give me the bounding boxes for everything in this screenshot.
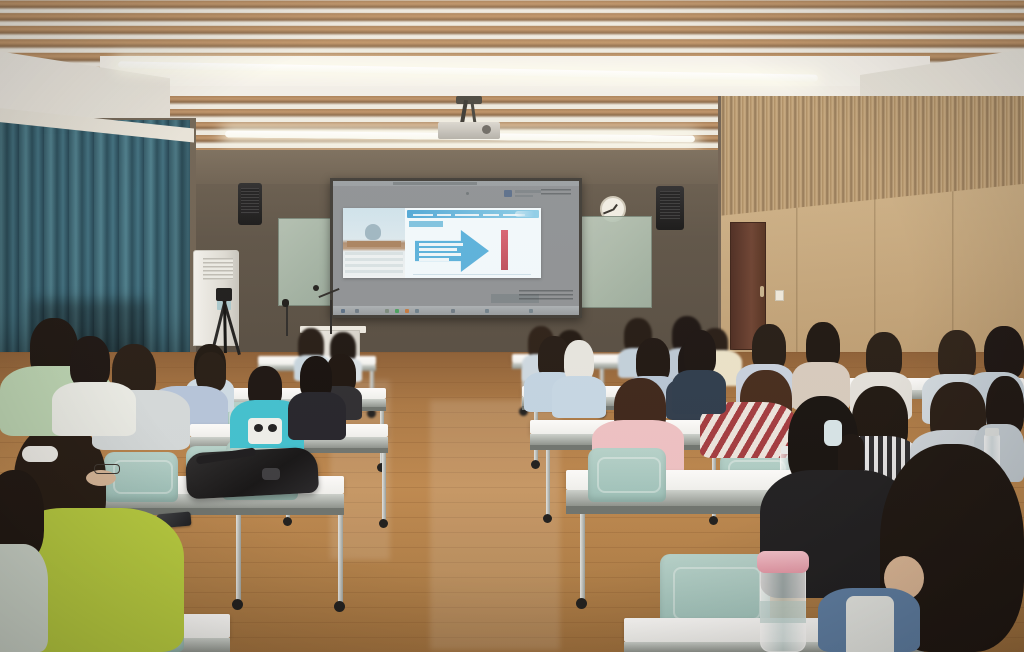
slide-vertical-accent-text (501, 230, 508, 270)
chair-r4-3[interactable] (588, 448, 666, 502)
eyeglasses-icon (94, 464, 120, 474)
tshirt-print-graphic (248, 418, 282, 444)
water-bottle-right-cap (985, 428, 999, 436)
taskbar-icon-1[interactable] (355, 309, 359, 313)
slide-photo-seat-rows (345, 252, 403, 276)
slide-title-text-2 (437, 214, 451, 216)
slide-credit-text (519, 290, 573, 302)
face-mask-icon (824, 420, 842, 446)
whiteboard-right (576, 216, 652, 308)
taskbar-icon-6[interactable] (451, 309, 455, 313)
taskbar-icon-5[interactable] (415, 309, 419, 313)
ceiling-projector (438, 112, 500, 138)
speaker-grill-icon-left (241, 188, 259, 214)
slide-arrow-graphic (415, 230, 489, 272)
microphone-icon (313, 285, 319, 291)
slide-bullet-1 (419, 243, 463, 246)
desktop-taskbar[interactable] (333, 306, 579, 315)
speaker-grill-icon-right (660, 191, 680, 219)
slide-photo-speaker (365, 224, 381, 240)
projection-screen (333, 181, 579, 315)
slide-bullet-2 (419, 248, 457, 251)
air-conditioner-vent-icon (203, 258, 233, 280)
hair-clip (22, 446, 58, 462)
slide-corner-watermark (541, 189, 571, 197)
desktop-titlebar-text (393, 182, 477, 185)
slide-photo-conference-hall (343, 208, 405, 278)
slide-bullet-5 (419, 263, 453, 266)
slide-footer-rule (413, 274, 531, 276)
light-switch[interactable] (775, 290, 784, 301)
slide-title-text-1 (413, 214, 433, 216)
microphone-stand-2 (286, 306, 288, 336)
taskbar-icon-2[interactable] (385, 309, 389, 313)
microphone-icon-2 (282, 299, 289, 307)
slide-title-text-4 (483, 214, 499, 216)
tshirt-print-eye-right (268, 424, 277, 432)
slide-bullet-3 (419, 253, 461, 256)
slide-subtitle-chip (409, 221, 443, 227)
backpack-buckle-icon (262, 468, 280, 480)
taskbar-icon-7[interactable] (485, 309, 489, 313)
desktop-cursor-icon (466, 192, 469, 195)
desktop-text-line-2 (515, 195, 533, 197)
presentation-slide (343, 208, 541, 278)
camera-on-tripod (216, 288, 232, 301)
taskbar-icon-start[interactable] (341, 309, 345, 313)
door-handle-icon[interactable] (760, 286, 764, 297)
tshirt-print-eye-left (254, 424, 263, 432)
projector-mount-plate (456, 96, 482, 104)
slide-bullet-4 (419, 258, 449, 261)
slide-logo-icon (515, 211, 535, 217)
lecture-hall-photo (0, 0, 1024, 652)
microphone-stand (330, 300, 332, 334)
taskbar-icon-3[interactable] (395, 309, 399, 313)
desktop-icon (504, 190, 512, 197)
taskbar-icon-4[interactable] (405, 309, 409, 313)
slide-title-text-3 (455, 214, 479, 216)
taskbar-icon-8[interactable] (529, 309, 533, 313)
white-collar (846, 596, 894, 652)
tumbler-sleeve (760, 601, 806, 623)
projection-screen-frame (330, 178, 582, 318)
desktop-text-line-1 (515, 190, 541, 193)
slide-photo-podium (347, 241, 401, 247)
tumbler-pink-lid (757, 551, 809, 573)
projector-lens-icon (482, 125, 491, 134)
